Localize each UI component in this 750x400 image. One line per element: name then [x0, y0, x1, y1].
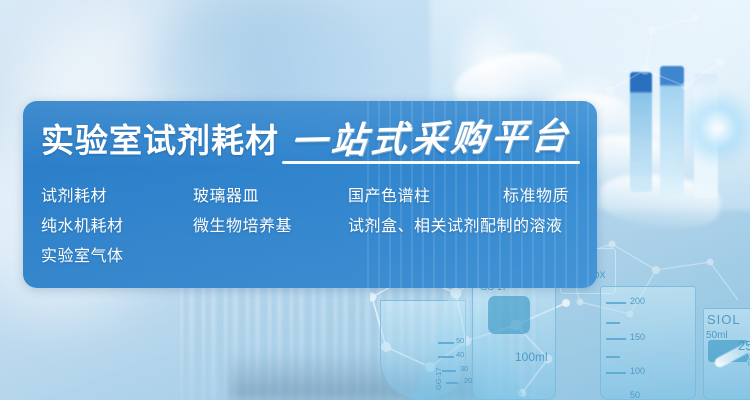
brand-label: SIOL [707, 312, 741, 327]
banner-title: 实验室试剂耗材 一站式采购平台 [41, 121, 571, 157]
category-row: 实验室气体 [41, 239, 597, 269]
title-underline [282, 161, 580, 164]
page-title: 实验室试剂耗材 [41, 124, 279, 157]
title-calligraphy: 一站式采购平台 [289, 118, 573, 160]
banner-image: 200 150 100 50 APPROX GG-17 100ml 50 40 … [0, 0, 750, 400]
category-item[interactable]: 试剂耗材 [41, 182, 193, 206]
graduation-label: 150 [630, 332, 645, 342]
graduation-label: 50 [456, 336, 464, 345]
category-item[interactable]: 试剂盒、相关试剂配制的溶液 [348, 212, 563, 236]
category-item[interactable]: 玻璃器皿 [193, 182, 348, 206]
molecule-network-icon [600, 0, 750, 120]
category-item[interactable]: 国产色谱柱 [348, 182, 503, 206]
category-row: 纯水机耗材 微生物培养基 试剂盒、相关试剂配制的溶液 [41, 209, 597, 239]
graduation-label: 30 [460, 364, 468, 373]
brand-label: GG-17 [434, 367, 443, 390]
volume-label: 50ml [706, 330, 728, 341]
category-item[interactable]: 实验室气体 [41, 242, 193, 266]
category-grid: 试剂耗材 玻璃器皿 国产色谱柱 标准物质 纯水机耗材 微生物培养基 试剂盒、相关… [41, 179, 597, 269]
graduation-label: 50 [630, 390, 640, 400]
graduation-label: 100 [630, 366, 645, 376]
promo-banner: 实验室试剂耗材 一站式采购平台 试剂耗材 玻璃器皿 国产色谱柱 标准物质 纯水机… [23, 101, 597, 288]
category-item[interactable]: 微生物培养基 [193, 212, 348, 236]
category-item[interactable]: 标准物质 [503, 182, 569, 206]
graduation-label: 20 [464, 376, 472, 385]
graduation-label: 200 [630, 296, 645, 306]
graduation-label: 250 [738, 338, 750, 353]
category-row: 试剂耗材 玻璃器皿 国产色谱柱 标准物质 [41, 179, 597, 209]
category-item[interactable]: 纯水机耗材 [41, 212, 193, 236]
graduation-label: 40 [456, 350, 464, 359]
volume-label: 100ml [515, 350, 548, 364]
glass-label-patch [488, 296, 530, 334]
